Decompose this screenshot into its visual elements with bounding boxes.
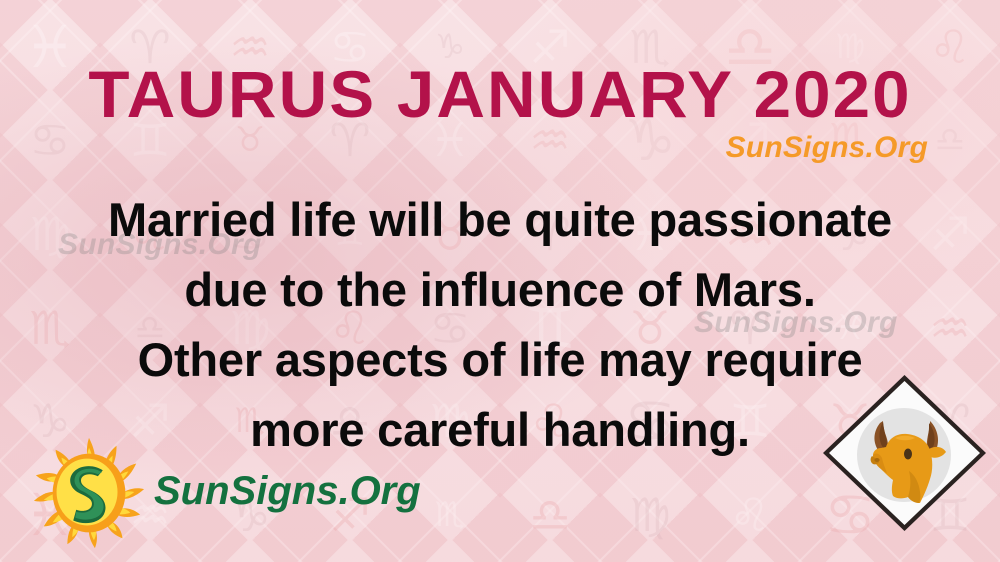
- brand-wordmark-top: SunSigns.Org: [726, 131, 928, 165]
- page-title: TAURUS JANUARY 2020: [0, 56, 1000, 132]
- horoscope-poster: ♓ ♈ ♒ ♋ ♑ ♐ ♏ ♎ ♍ ♌ ♋ ♊ ♉ ♈ ♓ ♒ ♑ ♐ ♏ ♎ …: [0, 0, 1000, 562]
- taurus-bull-icon: [823, 375, 986, 531]
- sunsigns-logo[interactable]: SunSigns.Org: [30, 434, 421, 552]
- body-line: due to the influence of Mars.: [26, 255, 974, 325]
- brand-wordmark-bottom: SunSigns.Org: [154, 469, 421, 514]
- body-line: Married life will be quite passionate: [26, 185, 974, 255]
- sun-logo-icon: [30, 434, 148, 552]
